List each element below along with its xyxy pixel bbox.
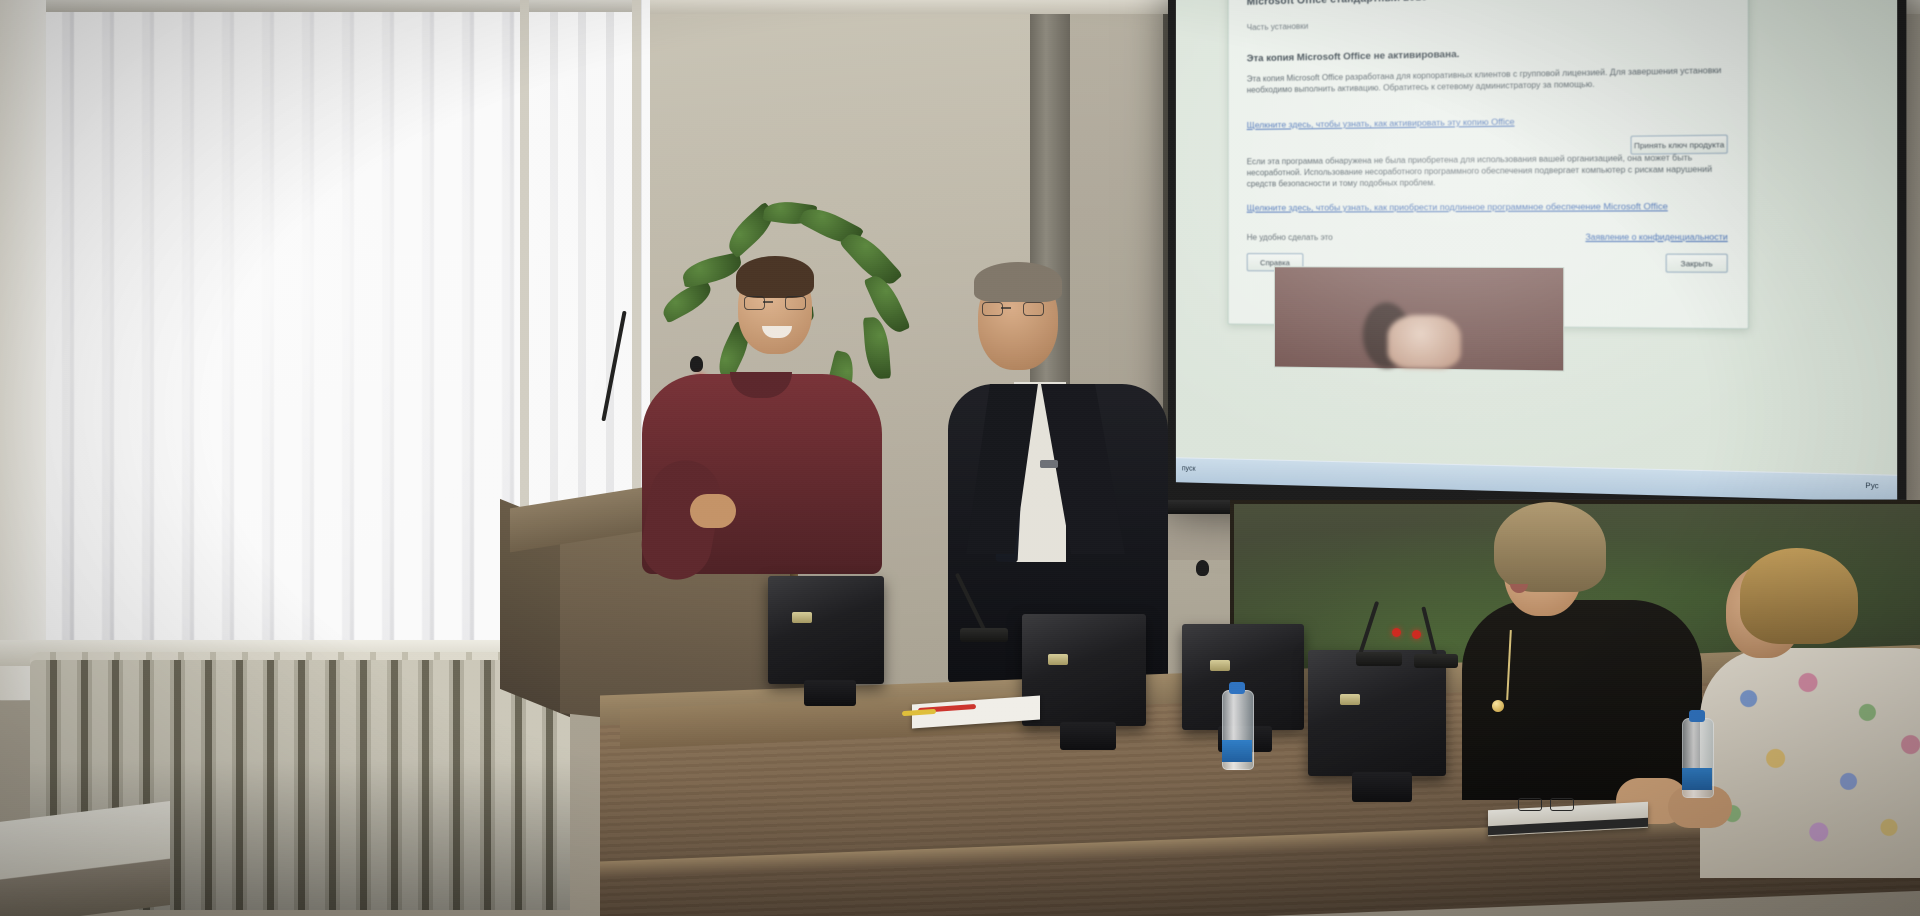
mic-desk-3-base xyxy=(1414,654,1458,668)
mic-capsule xyxy=(690,356,703,372)
monitor-2-panel xyxy=(1022,614,1146,726)
plant-leaf xyxy=(680,252,744,288)
dialog-paragraph-1: Эта копия Microsoft Office разработана д… xyxy=(1247,64,1726,95)
mic-desk-1-base xyxy=(960,628,1008,642)
speaker-hand xyxy=(690,494,736,528)
projection-screen: Microsoft Office стандартный 2010 Часть … xyxy=(1168,0,1906,524)
dialog-paragraph-2: Если эта программа обнаружена не была пр… xyxy=(1247,152,1726,190)
woman-dark-necklace-pendant xyxy=(1492,700,1504,712)
reading-glasses-icon xyxy=(1518,798,1574,810)
speaker-glasses-bridge xyxy=(763,301,773,303)
speaker-glasses-icon xyxy=(744,296,806,308)
conference-room-photo: Microsoft Office стандартный 2010 Часть … xyxy=(0,0,1920,916)
plant-leaf xyxy=(863,316,891,380)
taskbar-tray-language[interactable]: Рус xyxy=(1865,483,1878,491)
woman-floral-torso xyxy=(1700,648,1920,878)
suit-glasses-icon xyxy=(982,302,1044,314)
monitor-4-stand xyxy=(1352,772,1412,802)
dialog-subtitle: Часть установки xyxy=(1247,22,1309,33)
water-bottle-label xyxy=(1222,740,1252,762)
window-left-jamb xyxy=(0,0,46,700)
video-subject-face xyxy=(1388,315,1461,369)
dialog-privacy-link[interactable]: Заявление о конфиденциальности xyxy=(1585,232,1727,242)
speaker-hair xyxy=(736,256,814,298)
windows-taskbar[interactable]: пуск Рус xyxy=(1176,457,1897,502)
mic-desk-2-indicator xyxy=(1392,628,1401,637)
dialog-enter-key-button[interactable]: Принять ключ продукта xyxy=(1631,135,1728,155)
monitor-3-badge xyxy=(1210,660,1230,671)
mic-desk-2-base xyxy=(1356,652,1402,666)
water-bottle-2-cap xyxy=(1689,710,1705,722)
mic-desk-1-capsule xyxy=(1196,560,1209,576)
dialog-activate-link[interactable]: Щелкните здесь, чтобы узнать, как активи… xyxy=(1247,116,1515,130)
white-side-table xyxy=(0,801,170,916)
projection-screen-surface: Microsoft Office стандартный 2010 Часть … xyxy=(1176,0,1897,502)
mic-desk-3-indicator xyxy=(1412,630,1421,639)
suit-hair xyxy=(974,262,1062,302)
monitor-4-badge xyxy=(1340,694,1360,705)
video-preview[interactable] xyxy=(1274,266,1564,371)
water-bottle-cap xyxy=(1229,682,1245,694)
dialog-purchase-link[interactable]: Щелкните здесь, чтобы узнать, как приобр… xyxy=(1247,201,1668,213)
woman-floral-hair xyxy=(1740,548,1858,644)
monitor-4-panel xyxy=(1308,650,1446,776)
dialog-close-button[interactable]: Закрыть xyxy=(1666,254,1728,273)
monitor-2-badge xyxy=(1048,654,1068,665)
monitor-1-stand xyxy=(804,680,856,706)
taskbar-start-button[interactable]: пуск xyxy=(1182,465,1196,472)
suit-glasses-bridge xyxy=(1001,307,1011,309)
suit-pocket-badge xyxy=(1040,460,1058,468)
dialog-heading: Эта копия Microsoft Office не активирова… xyxy=(1247,49,1460,65)
woman-dark-hair xyxy=(1494,502,1606,592)
dialog-title: Microsoft Office стандартный 2010 xyxy=(1247,0,1428,8)
monitor-1-badge xyxy=(792,612,812,623)
monitor-1-panel xyxy=(768,576,884,684)
monitor-2-stand xyxy=(1060,722,1116,750)
blind-headrail xyxy=(0,0,640,12)
water-bottle-2-label xyxy=(1682,768,1712,790)
dialog-footer-note: Не удобно сделать это xyxy=(1247,233,1333,242)
